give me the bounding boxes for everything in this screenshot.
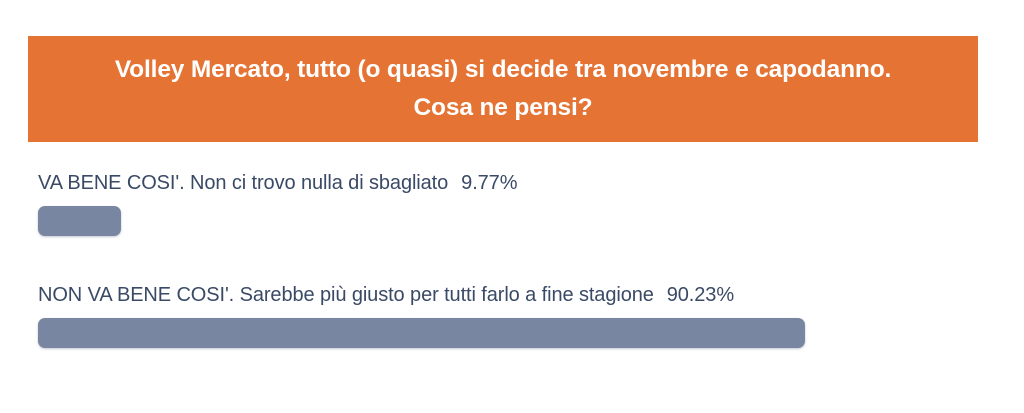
poll-question-line-1: Volley Mercato, tutto (o quasi) si decid… bbox=[115, 51, 891, 89]
poll-widget: Volley Mercato, tutto (o quasi) si decid… bbox=[0, 0, 1024, 413]
poll-option-2-bar-fill bbox=[38, 318, 805, 348]
poll-option-2: NON VA BENE COSI'. Sarebbe più giusto pe… bbox=[38, 282, 938, 348]
poll-option-2-text: NON VA BENE COSI'. Sarebbe più giusto pe… bbox=[38, 282, 938, 308]
poll-option-1-percent: 9.77% bbox=[461, 172, 517, 194]
poll-question-banner: Volley Mercato, tutto (o quasi) si decid… bbox=[28, 36, 978, 142]
poll-results-list: VA BENE COSI'. Non ci trovo nulla di sba… bbox=[38, 170, 938, 348]
poll-option-1-label: VA BENE COSI'. Non ci trovo nulla di sba… bbox=[38, 172, 448, 194]
poll-question-line-2: Cosa ne pensi? bbox=[414, 89, 593, 127]
poll-option-1: VA BENE COSI'. Non ci trovo nulla di sba… bbox=[38, 170, 938, 236]
poll-option-2-percent: 90.23% bbox=[667, 284, 734, 306]
poll-option-1-bar-fill bbox=[38, 206, 121, 236]
poll-option-1-bar-track bbox=[38, 206, 888, 236]
poll-option-1-text: VA BENE COSI'. Non ci trovo nulla di sba… bbox=[38, 170, 938, 196]
poll-option-2-bar-track bbox=[38, 318, 888, 348]
poll-option-2-label: NON VA BENE COSI'. Sarebbe più giusto pe… bbox=[38, 284, 654, 306]
